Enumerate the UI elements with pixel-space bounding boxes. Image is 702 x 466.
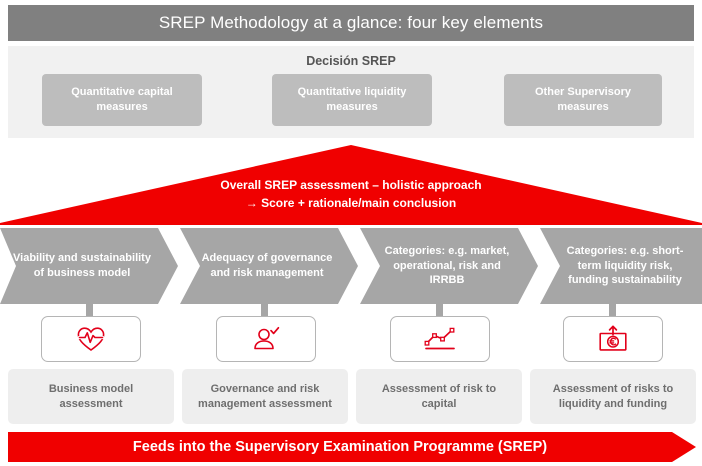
roof-triangle-shape [0,145,702,225]
chevron-business-model: Viability and sustainability of business… [0,228,178,304]
outcome-risk-to-capital-assessment: Assessment of risk to capital [356,369,522,424]
quantitative-liquidity-measures-card: Quantitative liquidity measures [272,74,432,126]
heart-pulse-icon [76,326,106,352]
connector-line-4 [609,304,616,316]
page-title-bar: SREP Methodology at a glance: four key e… [8,5,694,41]
page-title: SREP Methodology at a glance: four key e… [159,13,543,33]
feeds-into-sep-label: Feeds into the Supervisory Examination P… [133,439,547,455]
connector-line-2 [261,304,268,316]
overall-assessment-roof: Overall SREP assessment – holistic appro… [0,145,702,225]
icon-box-liquidity-funding [563,316,663,362]
icon-box-governance [216,316,316,362]
outcome-business-model-assessment: Business model assessment [8,369,174,424]
outcome-governance-risk-assessment: Governance and risk management assessmen… [182,369,348,424]
quantitative-capital-measures-card: Quantitative capital measures [42,74,202,126]
connector-line-1 [86,304,93,316]
outcome-liquidity-funding-assessment: Assessment of risks to liquidity and fun… [530,369,696,424]
decision-panel: Decisión SREP Quantitative capital measu… [8,46,694,138]
chevron-governance: Adequacy of governance and risk manageme… [180,228,358,304]
decision-panel-title: Decisión SREP [8,54,694,68]
icon-box-business-model [41,316,141,362]
feeds-into-sep-banner: Feeds into the Supervisory Examination P… [8,432,696,462]
icon-box-risk-to-capital [390,316,490,362]
person-check-icon [251,326,281,352]
connector-line-3 [436,304,443,316]
key-elements-chevron-row: Viability and sustainability of business… [0,228,702,304]
line-chart-icon [424,326,456,352]
srep-methodology-infographic: SREP Methodology at a glance: four key e… [0,0,702,466]
chevron-risk-to-capital: Categories: e.g. market, operational, ri… [360,228,538,304]
other-supervisory-measures-card: Other Supervisory measures [504,74,662,126]
euro-banknote-arrow-icon [598,325,628,353]
chevron-liquidity-funding: Categories: e.g. short-term liquidity ri… [540,228,702,304]
